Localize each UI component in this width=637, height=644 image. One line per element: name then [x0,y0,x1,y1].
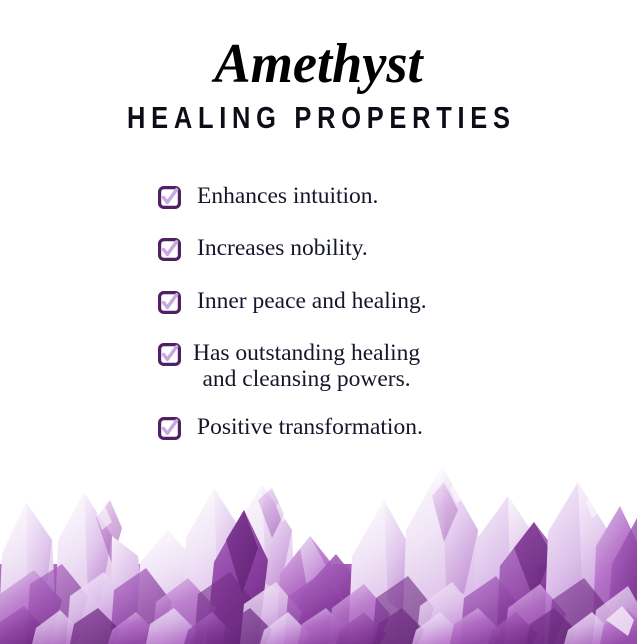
list-item[interactable]: Enhances intuition. [0,183,637,209]
list-item-label: Enhances intuition. [197,183,378,209]
list-item[interactable]: Increases nobility. [0,235,637,261]
checkbox-checked-icon[interactable] [158,238,181,261]
checkbox-checked-icon[interactable] [158,291,181,314]
list-item[interactable]: Has outstanding healing and cleansing po… [0,340,637,393]
checkbox-checked-icon[interactable] [158,343,181,366]
list-item-label: Inner peace and healing. [197,288,427,314]
page-title: Amethyst [10,0,628,92]
list-item-label: Positive transformation. [197,414,423,440]
checkbox-checked-icon[interactable] [158,186,181,209]
page-subtitle: HEALING PROPERTIES [57,92,579,133]
header: Amethyst HEALING PROPERTIES [0,0,637,133]
list-item-label: Increases nobility. [197,235,368,261]
amethyst-infographic: Amethyst HEALING PROPERTIES Enhances int… [0,0,637,644]
checkbox-checked-icon[interactable] [158,417,181,440]
list-item-label: Has outstanding healing and cleansing po… [193,340,420,393]
crystal-illustration [0,444,637,644]
amethyst-crystal-cluster [0,444,637,644]
list-item[interactable]: Inner peace and healing. [0,288,637,314]
healing-properties-list: Enhances intuition. Increases nobility. … [0,183,637,466]
list-item[interactable]: Positive transformation. [0,414,637,440]
